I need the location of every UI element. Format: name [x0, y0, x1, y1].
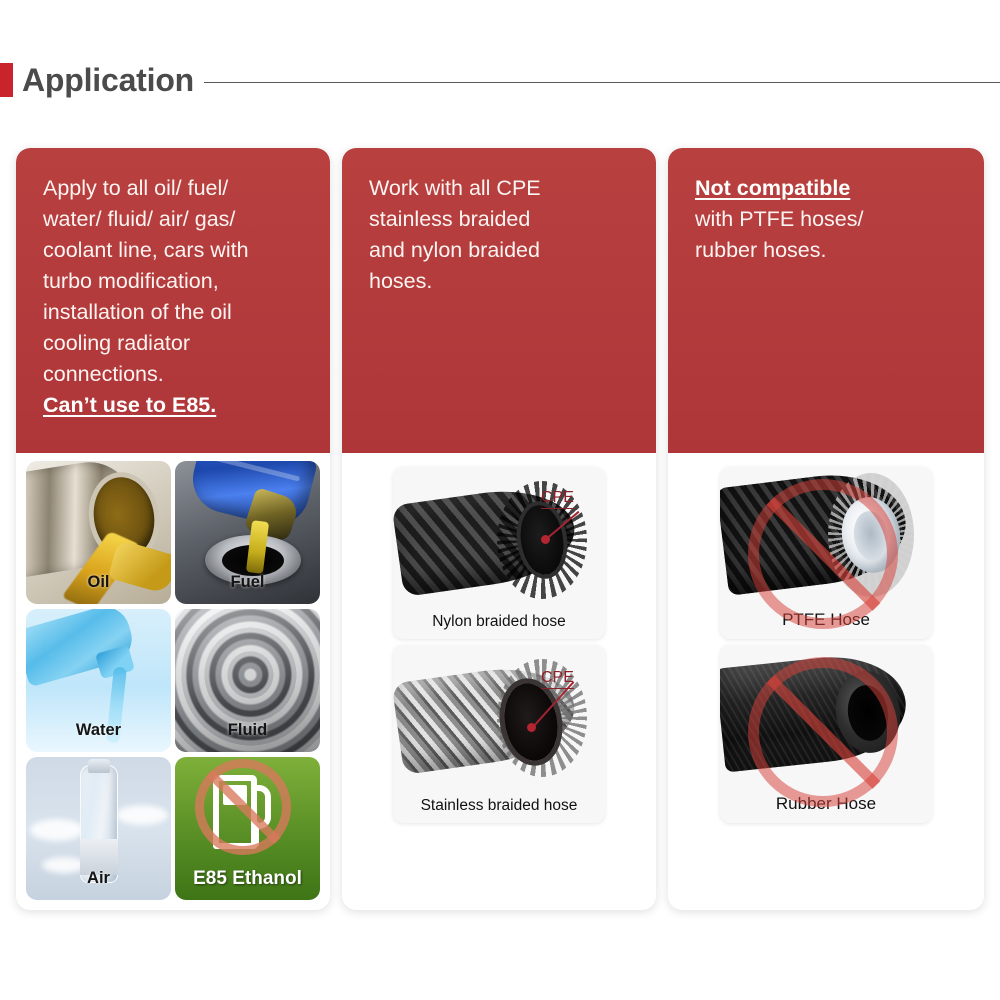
section-header: Application	[0, 57, 1000, 103]
caption-nylon-braided-hose: Nylon braided hose	[393, 613, 605, 631]
prohibition-icon	[195, 759, 291, 855]
media-tile-fluid: Fluid	[175, 609, 320, 752]
media-panel-nylon-braided-hose: CPE Nylon braided hose	[393, 467, 605, 639]
card-1-line-1: Apply to all oil/ fuel/	[43, 176, 228, 200]
card-application-uses: Apply to all oil/ fuel/ water/ fluid/ ai…	[16, 148, 330, 910]
card-1-text-block: Apply to all oil/ fuel/ water/ fluid/ ai…	[16, 148, 330, 453]
media-label-fluid: Fluid	[175, 721, 320, 740]
card-2-media-area: CPE Nylon braided hose CPE Stainless bra…	[342, 453, 656, 835]
media-label-fuel: Fuel	[175, 573, 320, 592]
application-cards-row: Apply to all oil/ fuel/ water/ fluid/ ai…	[16, 148, 984, 910]
card-1-line-7: connections.	[43, 362, 164, 386]
prohibition-icon	[748, 657, 898, 807]
media-tile-e85: E85 Ethanol	[175, 757, 320, 900]
media-label-air: Air	[26, 869, 171, 888]
card-1-line-4: turbo modification,	[43, 269, 219, 293]
card-1-line-3: coolant line, cars with	[43, 238, 249, 262]
media-label-water: Water	[26, 721, 171, 740]
media-panel-rubber-hose: Rubber Hose	[720, 645, 932, 823]
media-panel-ptfe-hose: PTFE Hose	[720, 467, 932, 639]
card-1-paragraph: Apply to all oil/ fuel/ water/ fluid/ ai…	[43, 173, 306, 421]
card-2-text-block: Work with all CPE stainless braided and …	[342, 148, 656, 453]
card-3-line-2: rubber hoses.	[695, 238, 826, 262]
card-3-paragraph: Not compatible with PTFE hoses/ rubber h…	[695, 173, 960, 266]
cpe-pointer-dot	[541, 535, 550, 544]
media-label-e85: E85 Ethanol	[175, 868, 320, 890]
card-3-line-1: with PTFE hoses/	[695, 207, 863, 231]
media-tile-fuel: Fuel	[175, 461, 320, 604]
prohibition-icon	[748, 479, 898, 629]
card-1-emphasis: Can’t use to E85.	[43, 393, 216, 417]
card-3-media-area: PTFE Hose Rubber Hose	[668, 453, 984, 835]
card-2-paragraph: Work with all CPE stainless braided and …	[369, 173, 632, 297]
application-media-grid: Oil Fuel Water	[26, 461, 320, 900]
card-1-line-2: water/ fluid/ air/ gas/	[43, 207, 235, 231]
card-3-emphasis: Not compatible	[695, 176, 850, 200]
card-compatible-hoses: Work with all CPE stainless braided and …	[342, 148, 656, 910]
media-tile-water: Water	[26, 609, 171, 752]
card-2-line-4: hoses.	[369, 269, 432, 293]
header-divider-line	[204, 82, 1000, 83]
media-tile-air: Air	[26, 757, 171, 900]
media-panel-stainless-braided-hose: CPE Stainless braided hose	[393, 645, 605, 823]
air-bottle-cap	[88, 759, 110, 773]
card-2-line-3: and nylon braided	[369, 238, 540, 262]
card-incompatible-hoses: Not compatible with PTFE hoses/ rubber h…	[668, 148, 984, 910]
card-1-line-5: installation of the oil	[43, 300, 232, 324]
card-3-text-block: Not compatible with PTFE hoses/ rubber h…	[668, 148, 984, 453]
media-label-oil: Oil	[26, 573, 171, 592]
card-1-line-6: cooling radiator	[43, 331, 190, 355]
card-1-media-area: Oil Fuel Water	[16, 453, 330, 910]
header-accent-bar	[0, 63, 13, 97]
cpe-pointer-dot	[527, 723, 536, 732]
cpe-annotation-label: CPE	[541, 669, 574, 689]
air-cloud-right	[116, 805, 168, 825]
card-2-line-1: Work with all CPE	[369, 176, 541, 200]
caption-stainless-braided-hose: Stainless braided hose	[393, 797, 605, 815]
page-title: Application	[13, 64, 204, 96]
media-tile-oil: Oil	[26, 461, 171, 604]
card-2-line-2: stainless braided	[369, 207, 530, 231]
cpe-annotation-label: CPE	[541, 489, 574, 509]
air-cloud-left	[30, 819, 84, 841]
